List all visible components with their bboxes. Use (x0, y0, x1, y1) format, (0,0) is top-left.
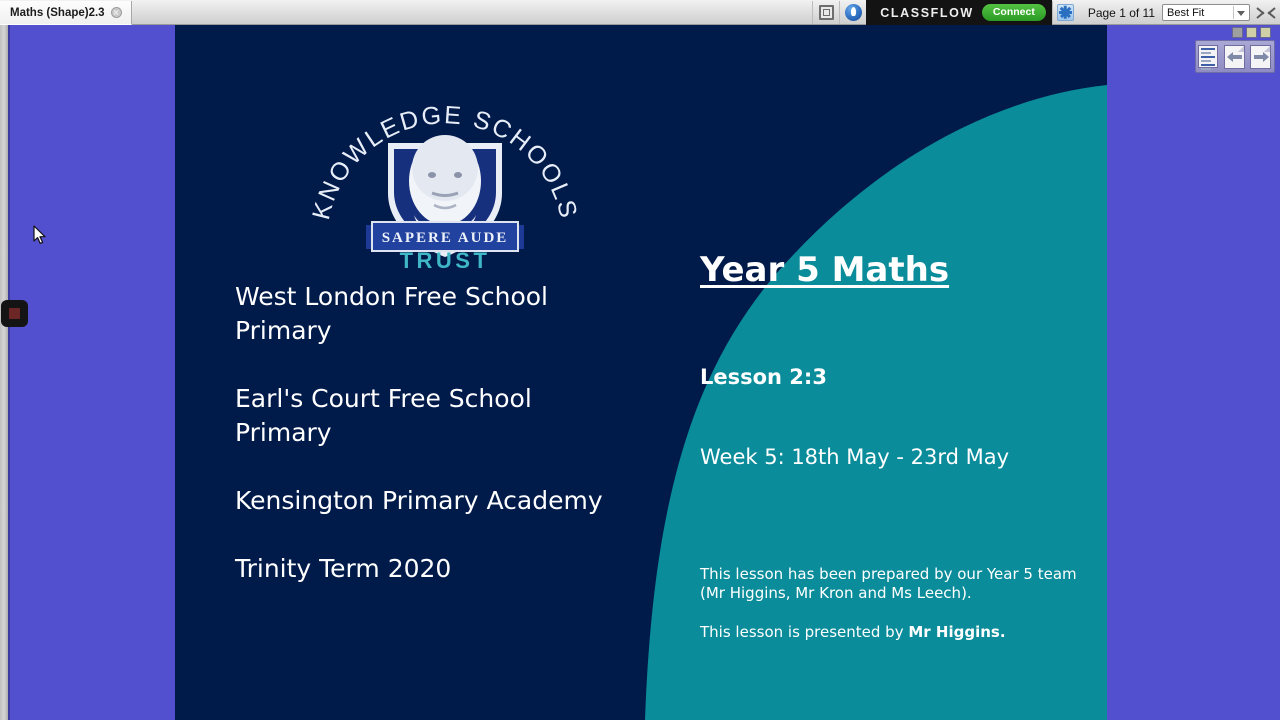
mouse-cursor (33, 225, 47, 245)
page-title: Year 5 Maths (700, 250, 949, 290)
previous-page-button[interactable] (1224, 45, 1246, 69)
presenter-name: Mr Higgins. (908, 623, 1005, 641)
collapse-icon[interactable] (1257, 4, 1275, 22)
close-icon[interactable] (111, 7, 122, 18)
credits-line-1: This lesson has been prepared by our Yea… (700, 565, 1105, 584)
zoom-select-value: Best Fit (1167, 7, 1204, 19)
document-viewer: KNOWLEDGE SCHOOLS SAPER (0, 25, 1280, 720)
school-item: Earl's Court Free School Primary (235, 382, 635, 450)
term-label: Trinity Term 2020 (235, 552, 635, 586)
lesson-number: Lesson 2:3 (700, 365, 827, 389)
launch-button[interactable] (839, 1, 866, 24)
presenter-prefix: This lesson is presented by (700, 623, 908, 641)
school-item: West London Free School Primary (235, 280, 635, 348)
window-view-button[interactable] (812, 1, 839, 24)
page-indicator: Page 1 of 11 (1079, 6, 1162, 20)
scrollbar-edge (8, 25, 10, 720)
rocket-icon (845, 4, 862, 21)
app-root: Maths (Shape)2.3 CLASSFLOW Connect (0, 0, 1280, 720)
zoom-select[interactable]: Best Fit (1162, 4, 1250, 21)
chrome-right-cluster: CLASSFLOW Connect Page 1 of 11 Best Fit (812, 0, 1280, 25)
stop-record-icon (9, 308, 20, 319)
mini-tab-strip (1232, 27, 1271, 38)
knowledge-schools-trust-logo: KNOWLEDGE SCHOOLS SAPER (310, 65, 580, 270)
logo-trust-word: TRUST (400, 248, 491, 270)
credits-block: This lesson has been prepared by our Yea… (700, 565, 1105, 643)
classflow-bar: CLASSFLOW Connect (866, 0, 1052, 25)
outline-button[interactable] (1198, 45, 1220, 69)
presenter-line: This lesson is presented by Mr Higgins. (700, 623, 1105, 642)
connect-button[interactable]: Connect (982, 4, 1046, 22)
previous-page-icon (1224, 45, 1245, 69)
chrome-spacer (132, 0, 813, 24)
snowflake-icon (1057, 4, 1074, 21)
credits-line-2: (Mr Higgins, Mr Kron and Ms Leech). (700, 584, 1105, 603)
mini-tab-3[interactable] (1260, 27, 1271, 38)
logo-motto: SAPERE AUDE (382, 230, 509, 246)
mini-tab-1[interactable] (1232, 27, 1243, 38)
outline-list-icon (1198, 45, 1218, 68)
next-page-button[interactable] (1250, 45, 1272, 69)
tool-chip-button[interactable] (1, 300, 28, 327)
browser-chrome-bar: Maths (Shape)2.3 CLASSFLOW Connect (0, 0, 1280, 25)
chevron-down-icon (1237, 11, 1245, 16)
week-range: Week 5: 18th May - 23rd May (700, 445, 1009, 469)
next-page-icon (1250, 45, 1271, 69)
mini-tab-2[interactable] (1246, 27, 1257, 38)
page-navigation-panel (1195, 40, 1275, 73)
slide-canvas[interactable]: KNOWLEDGE SCHOOLS SAPER (175, 25, 1107, 720)
document-tab-label: Maths (Shape)2.3 (10, 7, 105, 19)
classflow-logo: CLASSFLOW (880, 6, 974, 20)
document-tab[interactable]: Maths (Shape)2.3 (0, 1, 132, 25)
vertical-scrollbar[interactable] (0, 25, 8, 720)
school-list: West London Free School Primary Earl's C… (235, 280, 635, 586)
window-icon (819, 5, 834, 20)
school-item: Kensington Primary Academy (235, 484, 635, 518)
presentation-mode-button[interactable] (1052, 1, 1079, 24)
